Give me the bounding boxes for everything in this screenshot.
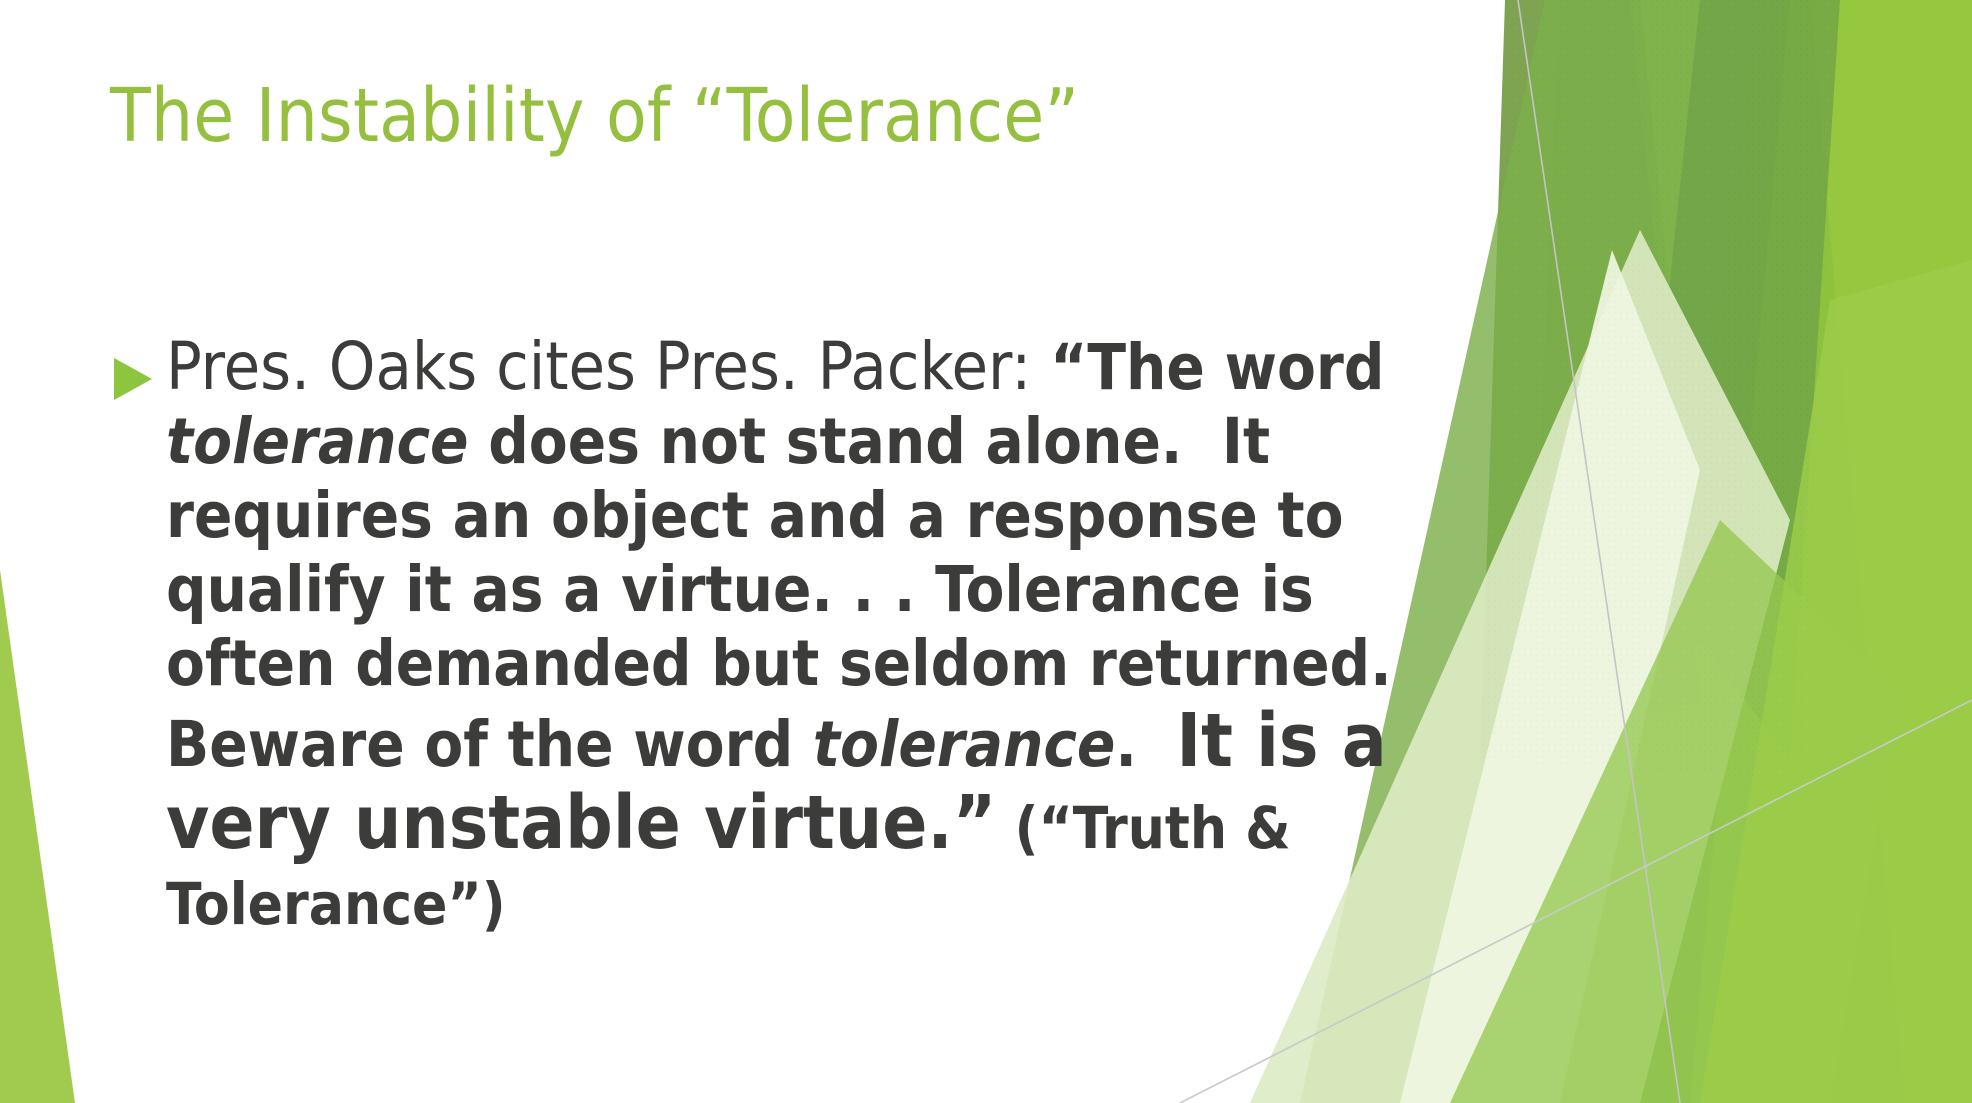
hairline-vertical [1518, 0, 1680, 1103]
triangle-bullet-icon [110, 330, 166, 404]
page-title: The Instability of “Tolerance” [110, 78, 1410, 156]
facet-light-overlay [1450, 520, 1900, 1103]
content-placeholder: Pres. Oaks cites Pres. Packer: “The word… [110, 330, 1470, 939]
facet-right-bright [1612, 0, 1972, 1103]
facet-bright-overlay [1700, 260, 1972, 1103]
italic-term-first: tolerance [166, 405, 469, 478]
italic-term-second: tolerance [813, 708, 1116, 781]
facet-olive-panel-shade [1530, 0, 1705, 690]
facet-dark-core [1640, 0, 1840, 760]
quote-open-text: “The word [1050, 331, 1384, 404]
bullet-paragraph: Pres. Oaks cites Pres. Packer: “The word… [166, 330, 1470, 939]
facet-olive-panel [1480, 0, 1700, 760]
presentation-slide: The Instability of “Tolerance” Pres. Oak… [0, 0, 1972, 1103]
facet-bright-panel [1430, 0, 1905, 1103]
bullet-lead-text: Pres. Oaks cites Pres. Packer: [166, 328, 1050, 405]
corner-wedge-left [0, 570, 75, 1103]
quote-body-second: . [1115, 708, 1176, 781]
facet-texture [1480, 0, 1840, 780]
